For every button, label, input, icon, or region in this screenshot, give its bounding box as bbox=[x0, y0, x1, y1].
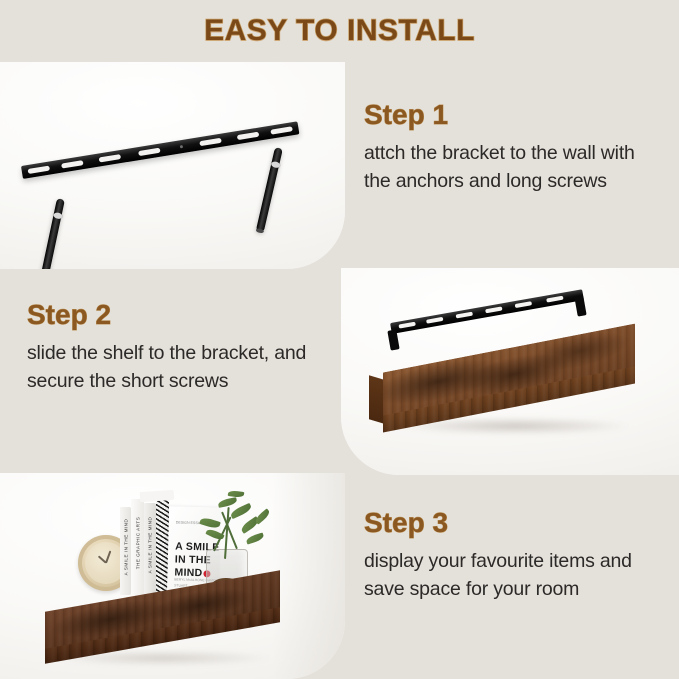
step-1-body: attch the bracket to the wall with the a… bbox=[364, 139, 664, 196]
bracket-rod-right-icon bbox=[256, 147, 283, 233]
step-3-image-panel: A SMILE IN THE MIND THE GRAPHIC ARTS A S… bbox=[0, 473, 345, 679]
book-spine-label: A SMILE IN THE MIND bbox=[123, 519, 128, 576]
step-2-body: slide the shelf to the bracket, and secu… bbox=[27, 339, 327, 396]
plant-leaf bbox=[245, 532, 264, 544]
book-spine: A SMILE IN THE MIND bbox=[144, 503, 156, 595]
wall-bracket-illustration bbox=[0, 62, 345, 269]
book-spine-label: THE GRAPHIC ARTS bbox=[135, 517, 140, 570]
styled-shelf-illustration: A SMILE IN THE MIND THE GRAPHIC ARTS A S… bbox=[0, 473, 345, 679]
step-1-heading: Step 1 bbox=[364, 100, 664, 131]
step-2-text-block: Step 2 slide the shelf to the bracket, a… bbox=[27, 300, 327, 395]
rod-screw-right-icon bbox=[271, 161, 281, 169]
step-1-image-panel bbox=[0, 62, 345, 269]
bracket-bar-icon bbox=[390, 289, 584, 334]
book-spine: THE GRAPHIC ARTS bbox=[131, 499, 144, 595]
plant-leaf bbox=[229, 503, 252, 519]
bracket-rod-left-icon bbox=[38, 198, 65, 269]
book-top-label bbox=[140, 490, 175, 502]
shelf-drop-shadow bbox=[399, 418, 629, 434]
rod-screw-left-icon bbox=[53, 212, 63, 220]
page-title: EASY TO INSTALL bbox=[204, 14, 475, 48]
book-spine: A SMILE IN THE MIND bbox=[120, 507, 131, 595]
book-spine-label: A SMILE IN THE MIND bbox=[148, 517, 153, 574]
plant-leaf bbox=[228, 490, 245, 498]
shelf-mounting-illustration bbox=[341, 268, 679, 475]
step-3-text-block: Step 3 display your favourite items and … bbox=[364, 508, 669, 603]
plant-leaf bbox=[254, 508, 272, 524]
rod-cap-right-icon bbox=[256, 228, 265, 234]
title-bar: EASY TO INSTALL bbox=[0, 0, 679, 62]
step-3-body: display your favourite items and save sp… bbox=[364, 547, 669, 604]
step-1-text-block: Step 1 attch the bracket to the wall wit… bbox=[364, 100, 664, 195]
step-2-heading: Step 2 bbox=[27, 300, 327, 331]
step-2-image-panel bbox=[341, 268, 679, 475]
wooden-shelf bbox=[383, 324, 635, 433]
bracket-bar-icon bbox=[21, 121, 299, 179]
wall-corner-shading bbox=[272, 473, 345, 679]
bracket-end-right-icon bbox=[574, 295, 586, 316]
step-3-heading: Step 3 bbox=[364, 508, 669, 539]
easy-to-install-infographic: EASY TO INSTALL bbox=[0, 0, 679, 679]
shelf-drop-shadow bbox=[55, 651, 270, 665]
